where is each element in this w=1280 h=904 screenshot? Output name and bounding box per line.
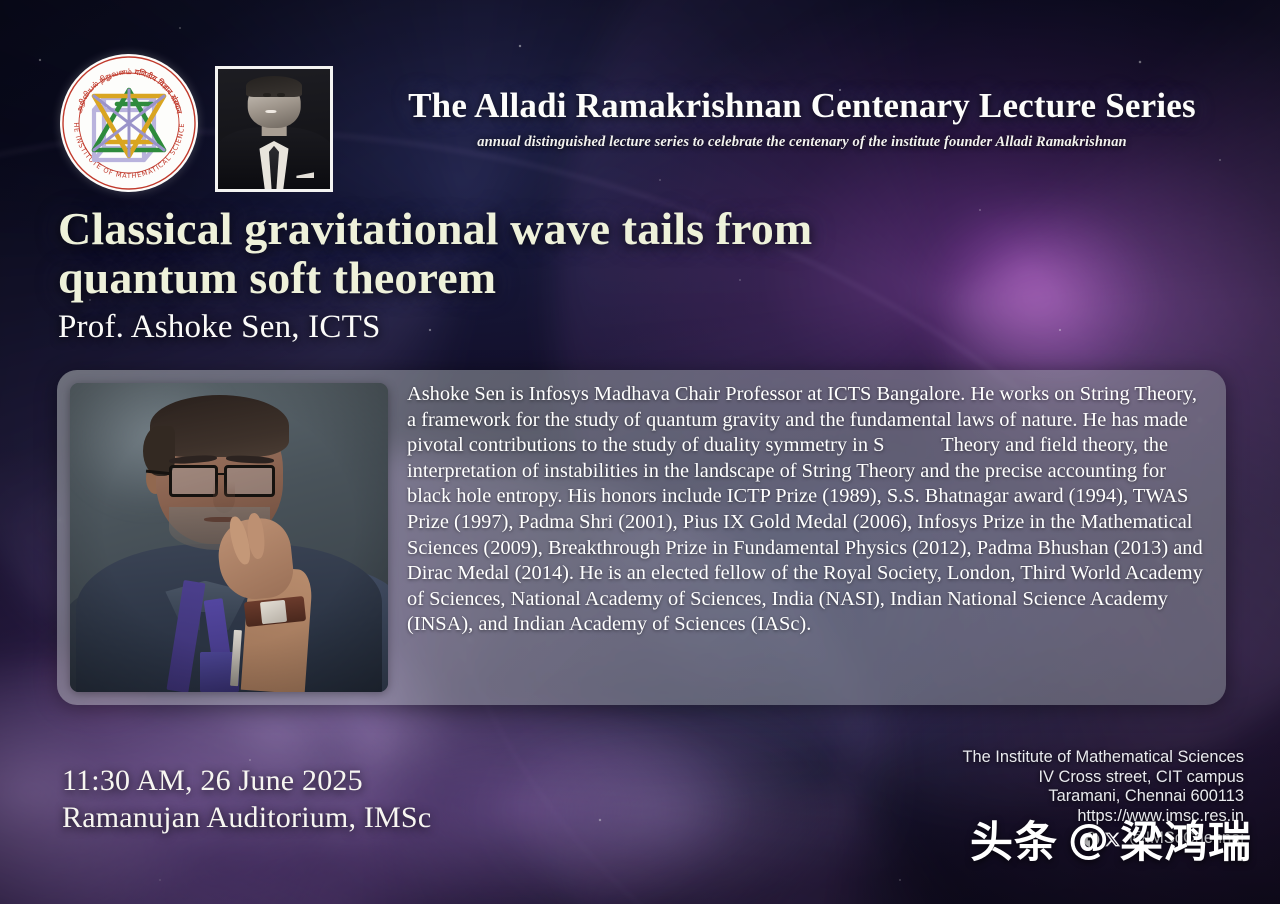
event-time: 11:30 AM, 26 June 2025 [62,764,431,798]
lecture-title-line-1: Classical gravitational wave tails from [58,204,1018,253]
event-info: 11:30 AM, 26 June 2025 Ramanujan Auditor… [62,764,431,835]
watermark-at-symbol: @ [1068,815,1110,863]
watermark-username: 梁鸿瑞 [1120,808,1252,870]
speaker-bio-panel: Ashoke Sen is Infosys Madhava Chair Prof… [57,370,1226,705]
speaker-name: Prof. Ashoke Sen, ICTS [58,309,1018,346]
lecture-poster: அறிவியல் நிறுவனம் गणितीय विज्ञान संस्थान… [0,0,1280,904]
series-title-block: The Alladi Ramakrishnan Centenary Lectur… [352,22,1252,151]
watermark-platform: 头条 [970,808,1058,870]
series-title: The Alladi Ramakrishnan Centenary Lectur… [352,22,1252,125]
bio-part-2: Theory and field theory, the interpretat… [407,434,1203,635]
event-venue: Ramanujan Auditorium, IMSc [62,801,431,835]
speaker-photo [70,383,388,692]
series-subtitle: annual distinguished lecture series to c… [352,134,1252,151]
institute-city: Taramani, Chennai 600113 [962,787,1244,807]
poster-header: அறிவியல் நிறுவனம் गणितीय विज्ञान संस्थान… [0,22,1280,182]
bio-obscured-word: tring [884,433,936,459]
lecture-title-block: Classical gravitational wave tails from … [58,204,1018,346]
lecture-title: Classical gravitational wave tails from … [58,204,1018,302]
speaker-bio-text: Ashoke Sen is Infosys Madhava Chair Prof… [407,382,1210,638]
lecture-title-line-2: quantum soft theorem [58,253,1018,302]
institute-street: IV Cross street, CIT campus [962,768,1244,788]
founder-portrait [215,66,333,192]
institute-name: The Institute of Mathematical Sciences [962,748,1244,768]
imsc-logo-graphic: அறிவியல் நிறுவனம் गणितीय विज्ञान संस्थान… [60,54,198,192]
watermark: 头条 @ 梁鸿瑞 [970,808,1252,870]
imsc-logo: அறிவியல் நிறுவனம் गणितीय विज्ञान संस्थान… [60,54,198,192]
